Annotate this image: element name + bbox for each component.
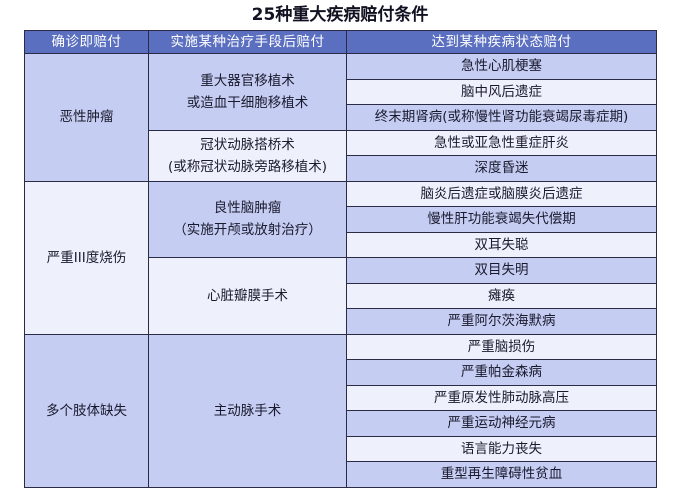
state-cell-0: 急性心肌梗塞 xyxy=(347,54,657,80)
critical-illness-table: 确诊即赔付 实施某种治疗手段后赔付 达到某种疾病状态赔付 恶性肿瘤 重大器官移植… xyxy=(24,30,657,488)
treatment-cell-2-line2: （实施开颅或放射治疗） xyxy=(149,219,346,241)
diagnosis-cell-1: 严重III度烧伤 xyxy=(25,181,149,334)
state-cell-3: 急性或亚急性重症肝炎 xyxy=(347,130,657,156)
state-cell-1: 脑中风后遗症 xyxy=(347,79,657,105)
diagnosis-cell-2: 多个肢体缺失 xyxy=(25,334,149,487)
treatment-cell-1-line1: 冠状动脉搭桥术 xyxy=(149,134,346,156)
state-cell-6: 慢性肝功能衰竭失代偿期 xyxy=(347,207,657,233)
treatment-cell-0-line1: 重大器官移植术 xyxy=(149,70,346,92)
state-cell-8: 双目失明 xyxy=(347,258,657,284)
table-row: 多个肢体缺失 主动脉手术 严重脑损伤 xyxy=(25,334,657,360)
state-cell-12: 严重帕金森病 xyxy=(347,360,657,386)
state-cell-10: 严重阿尔茨海默病 xyxy=(347,309,657,335)
treatment-cell-3: 心脏瓣膜手术 xyxy=(149,258,347,335)
treatment-cell-2: 良性脑肿瘤 （实施开颅或放射治疗） xyxy=(149,181,347,258)
table-row: 恶性肿瘤 重大器官移植术 或造血干细胞移植术 急性心肌梗塞 xyxy=(25,54,657,80)
diagnosis-cell-0: 恶性肿瘤 xyxy=(25,54,149,182)
state-cell-14: 严重运动神经元病 xyxy=(347,411,657,437)
treatment-cell-4-line1: 主动脉手术 xyxy=(149,400,346,422)
state-cell-13: 严重原发性肺动脉高压 xyxy=(347,385,657,411)
column-header-diagnosis: 确诊即赔付 xyxy=(25,31,149,54)
treatment-cell-1: 冠状动脉搭桥术 (或称冠状动脉旁路移植术) xyxy=(149,130,347,181)
state-cell-15: 语言能力丧失 xyxy=(347,436,657,462)
state-cell-9: 瘫痪 xyxy=(347,283,657,309)
treatment-cell-4: 主动脉手术 xyxy=(149,334,347,487)
state-cell-5: 脑炎后遗症或脑膜炎后遗症 xyxy=(347,181,657,207)
state-cell-2: 终末期肾病(或称慢性肾功能衰竭尿毒症期) xyxy=(347,105,657,131)
treatment-cell-0: 重大器官移植术 或造血干细胞移植术 xyxy=(149,54,347,131)
table-header-row: 确诊即赔付 实施某种治疗手段后赔付 达到某种疾病状态赔付 xyxy=(25,31,657,54)
treatment-cell-2-line1: 良性脑肿瘤 xyxy=(149,197,346,219)
document-page: 25种重大疾病赔付条件 确诊即赔付 实施某种治疗手段后赔付 达到某种疾病状态赔付… xyxy=(0,0,680,487)
state-cell-7: 双耳失聪 xyxy=(347,232,657,258)
table-body: 恶性肿瘤 重大器官移植术 或造血干细胞移植术 急性心肌梗塞 脑中风后遗症 终末期… xyxy=(25,54,657,488)
state-cell-16: 重型再生障碍性贫血 xyxy=(347,462,657,488)
treatment-cell-0-line2: 或造血干细胞移植术 xyxy=(149,92,346,114)
table-row: 严重III度烧伤 良性脑肿瘤 （实施开颅或放射治疗） 脑炎后遗症或脑膜炎后遗症 xyxy=(25,181,657,207)
column-header-treatment: 实施某种治疗手段后赔付 xyxy=(149,31,347,54)
treatment-cell-1-line2: (或称冠状动脉旁路移植术) xyxy=(149,156,346,178)
table-header: 确诊即赔付 实施某种治疗手段后赔付 达到某种疾病状态赔付 xyxy=(25,31,657,54)
page-title: 25种重大疾病赔付条件 xyxy=(0,0,680,30)
state-cell-4: 深度昏迷 xyxy=(347,156,657,182)
column-header-state: 达到某种疾病状态赔付 xyxy=(347,31,657,54)
critical-illness-table-wrap: 确诊即赔付 实施某种治疗手段后赔付 达到某种疾病状态赔付 恶性肿瘤 重大器官移植… xyxy=(24,30,656,488)
state-cell-11: 严重脑损伤 xyxy=(347,334,657,360)
treatment-cell-3-line1: 心脏瓣膜手术 xyxy=(149,285,346,307)
